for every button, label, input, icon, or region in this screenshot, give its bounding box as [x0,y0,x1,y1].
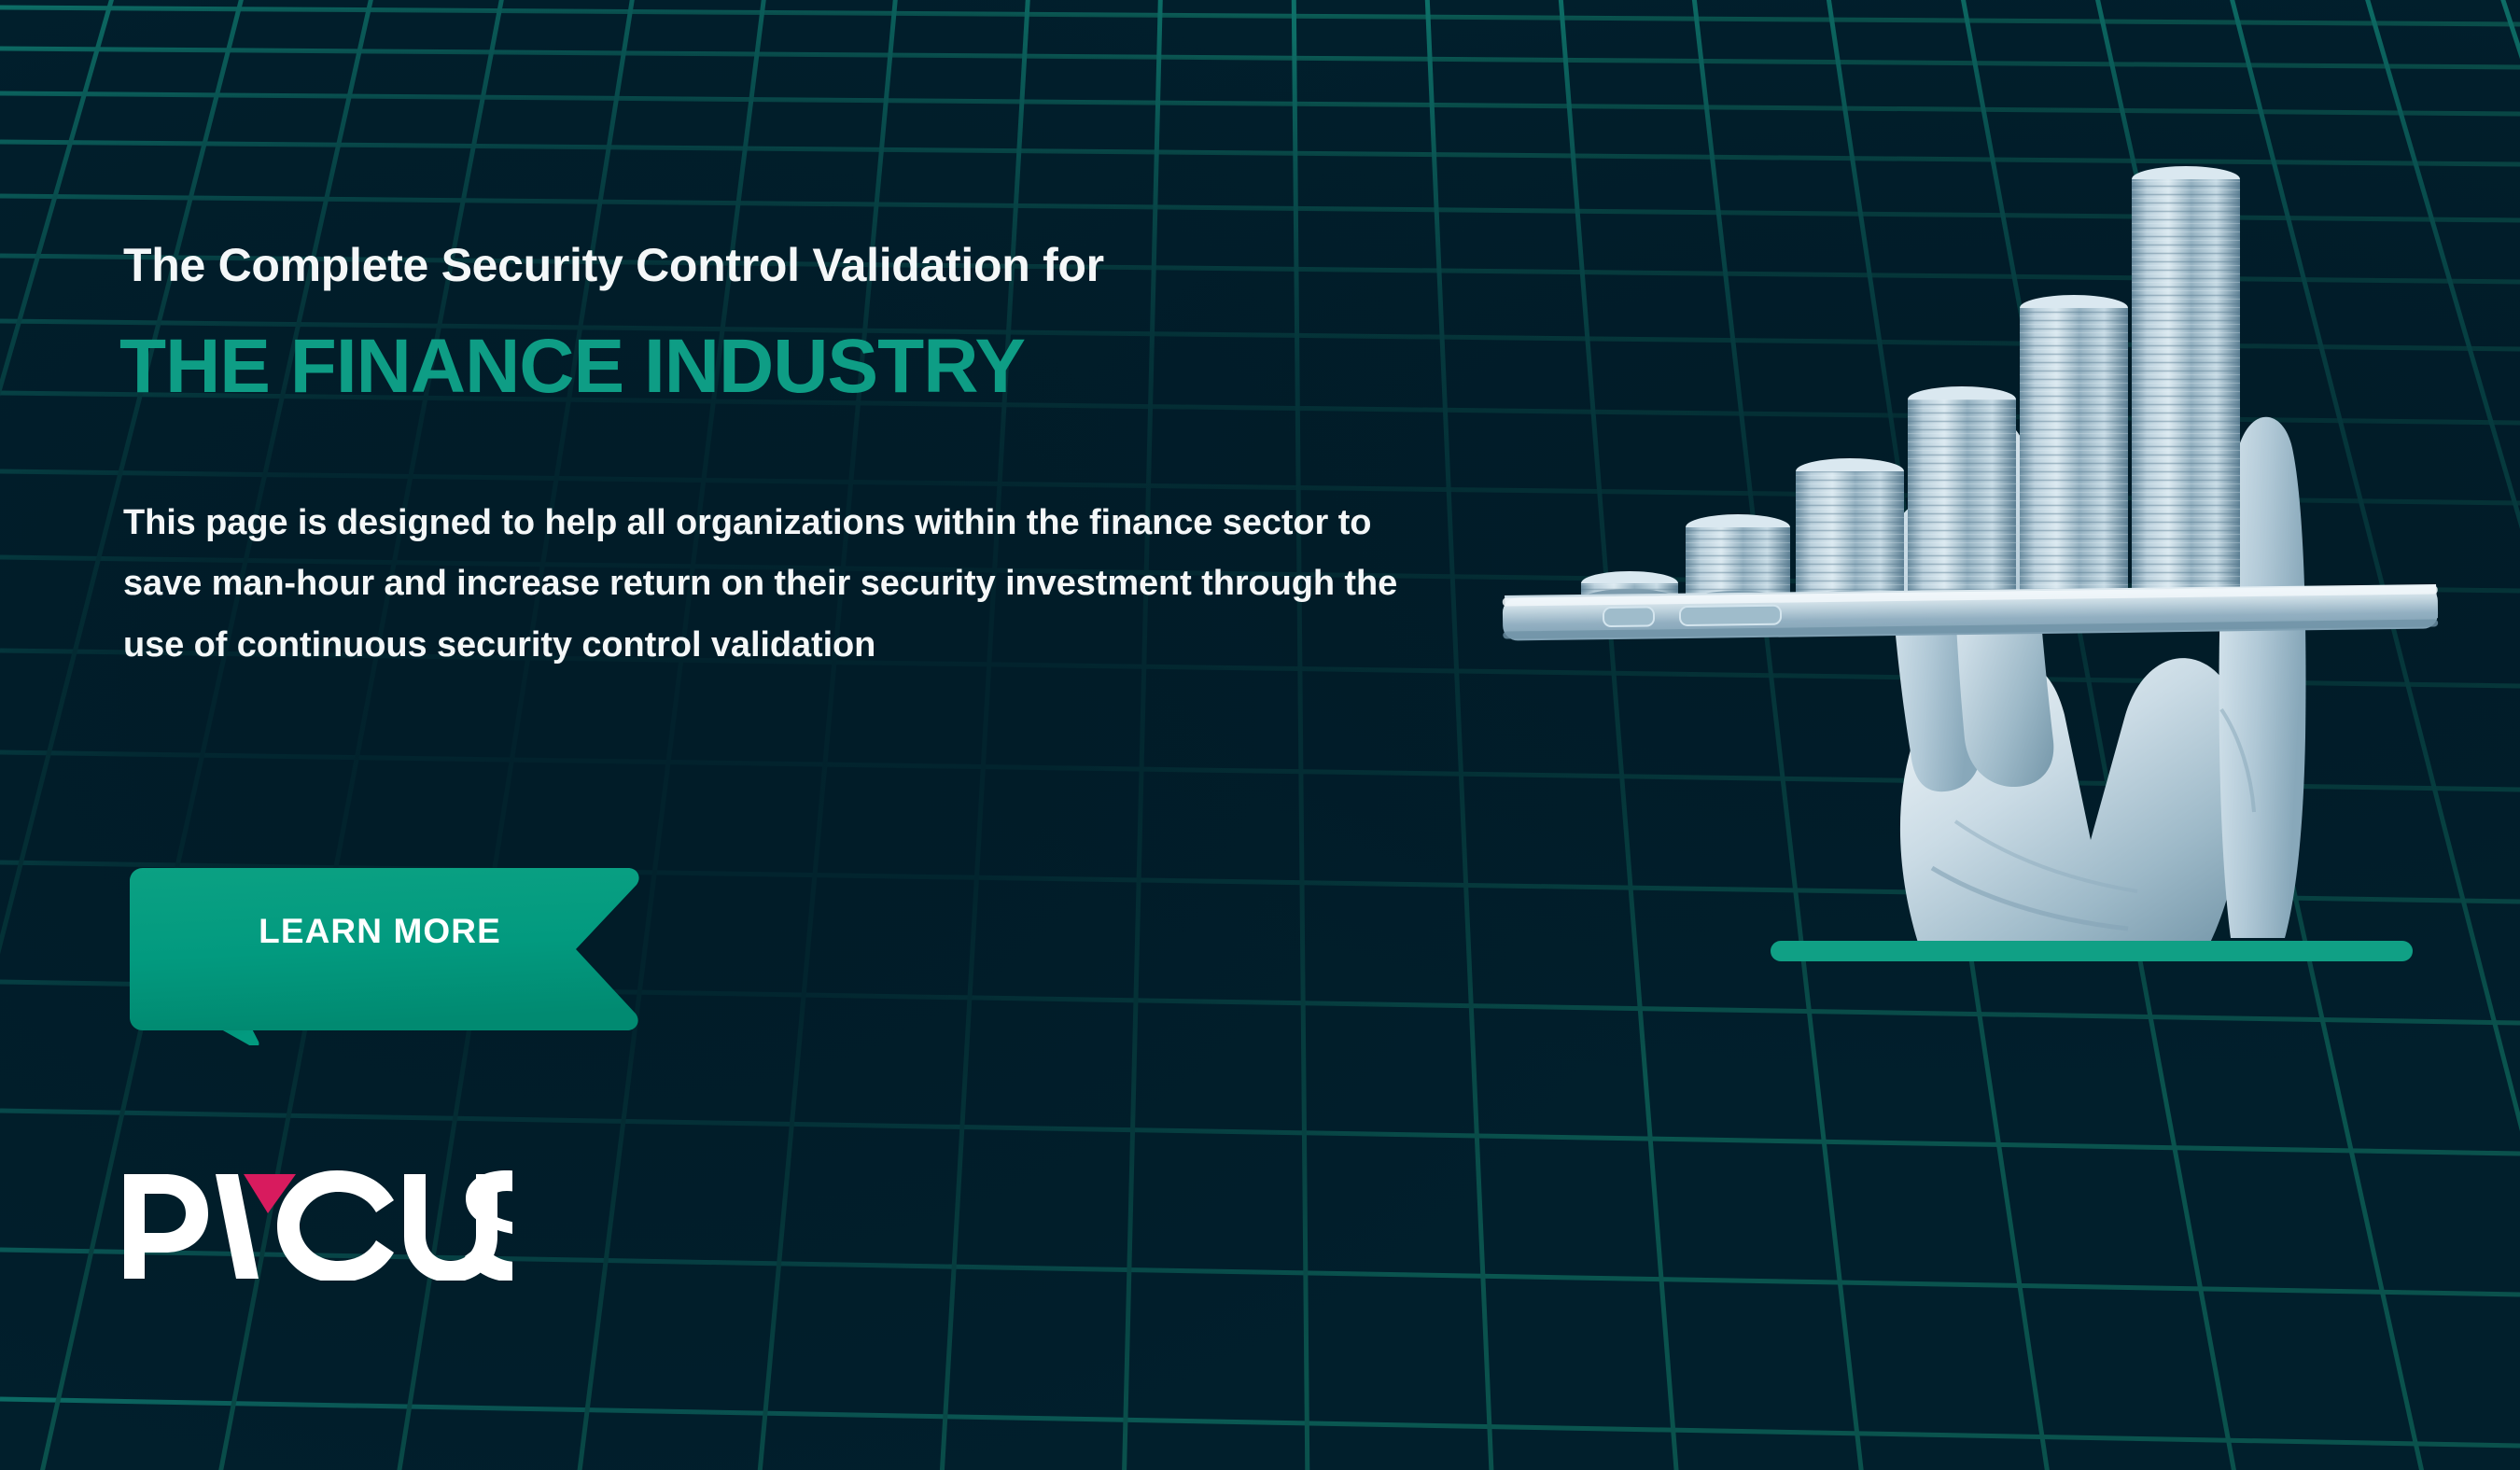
page-title: THE FINANCE INDUSTRY [119,329,1025,405]
ribbon-body [130,868,639,1030]
logo-letter-p [124,1174,208,1279]
hero-content: The Complete Security Control Validation… [123,0,1523,1470]
accent-bar [1771,941,2413,961]
logo-letter-c [277,1170,394,1281]
hero-description: This page is designed to help all organi… [123,493,1411,676]
finance-industry-banner: The Complete Security Control Validation… [0,0,2520,1470]
picus-logo[interactable] [120,1169,512,1281]
hero-eyebrow: The Complete Security Control Validation… [123,241,1104,290]
logo-letter-s [465,1170,512,1281]
logo-letter-i [216,1174,259,1279]
learn-more-button[interactable]: LEARN MORE [119,859,660,1045]
